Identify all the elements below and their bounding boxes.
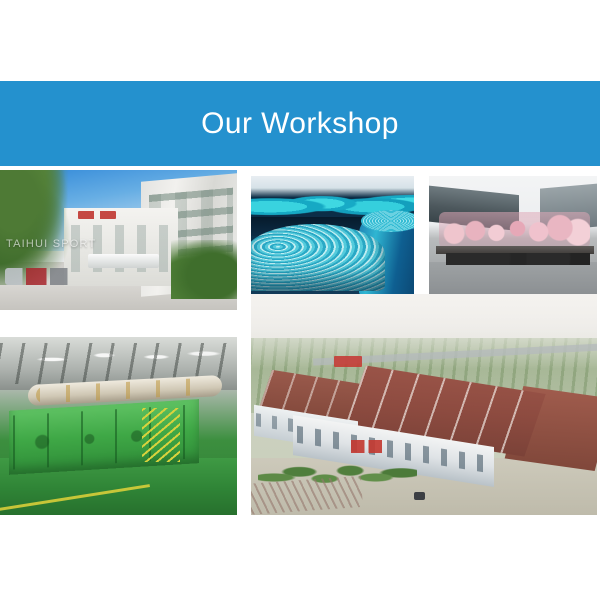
photo-gallery: TAIHUI SPORT <box>0 166 600 526</box>
page-title: Our Workshop <box>201 109 399 139</box>
gallery-photo-loaded-delivery-truck[interactable] <box>429 176 597 296</box>
rolls-photo-scene <box>251 176 414 296</box>
yellow-access-stairs <box>142 408 180 461</box>
production-line-photo-scene <box>0 337 237 515</box>
aerial-photo-scene <box>251 294 597 515</box>
foreground-spiral-roll <box>251 224 385 291</box>
red-billboard <box>334 356 362 367</box>
page-header-banner: Our Workshop <box>0 81 600 166</box>
building-sign-characters <box>78 211 116 219</box>
shrub-hedge <box>171 240 237 299</box>
workshop-showcase-page: Our Workshop TAIHUI SPORT <box>0 0 600 600</box>
gallery-photo-green-production-line[interactable] <box>0 337 237 515</box>
parked-car <box>414 492 425 499</box>
trailer-wheels <box>446 253 590 265</box>
truck-photo-scene <box>429 176 597 296</box>
entrance-canopy <box>88 254 159 268</box>
office-photo-scene <box>0 170 237 310</box>
gallery-photo-aerial-factory-complex[interactable] <box>251 294 597 515</box>
parked-cars <box>5 268 86 285</box>
gallery-photo-factory-office-entrance[interactable]: TAIHUI SPORT <box>0 170 237 310</box>
gallery-photo-blue-material-rolls[interactable] <box>251 176 414 296</box>
yard-pavement <box>429 262 597 296</box>
wrapped-roll-cargo <box>439 212 590 248</box>
